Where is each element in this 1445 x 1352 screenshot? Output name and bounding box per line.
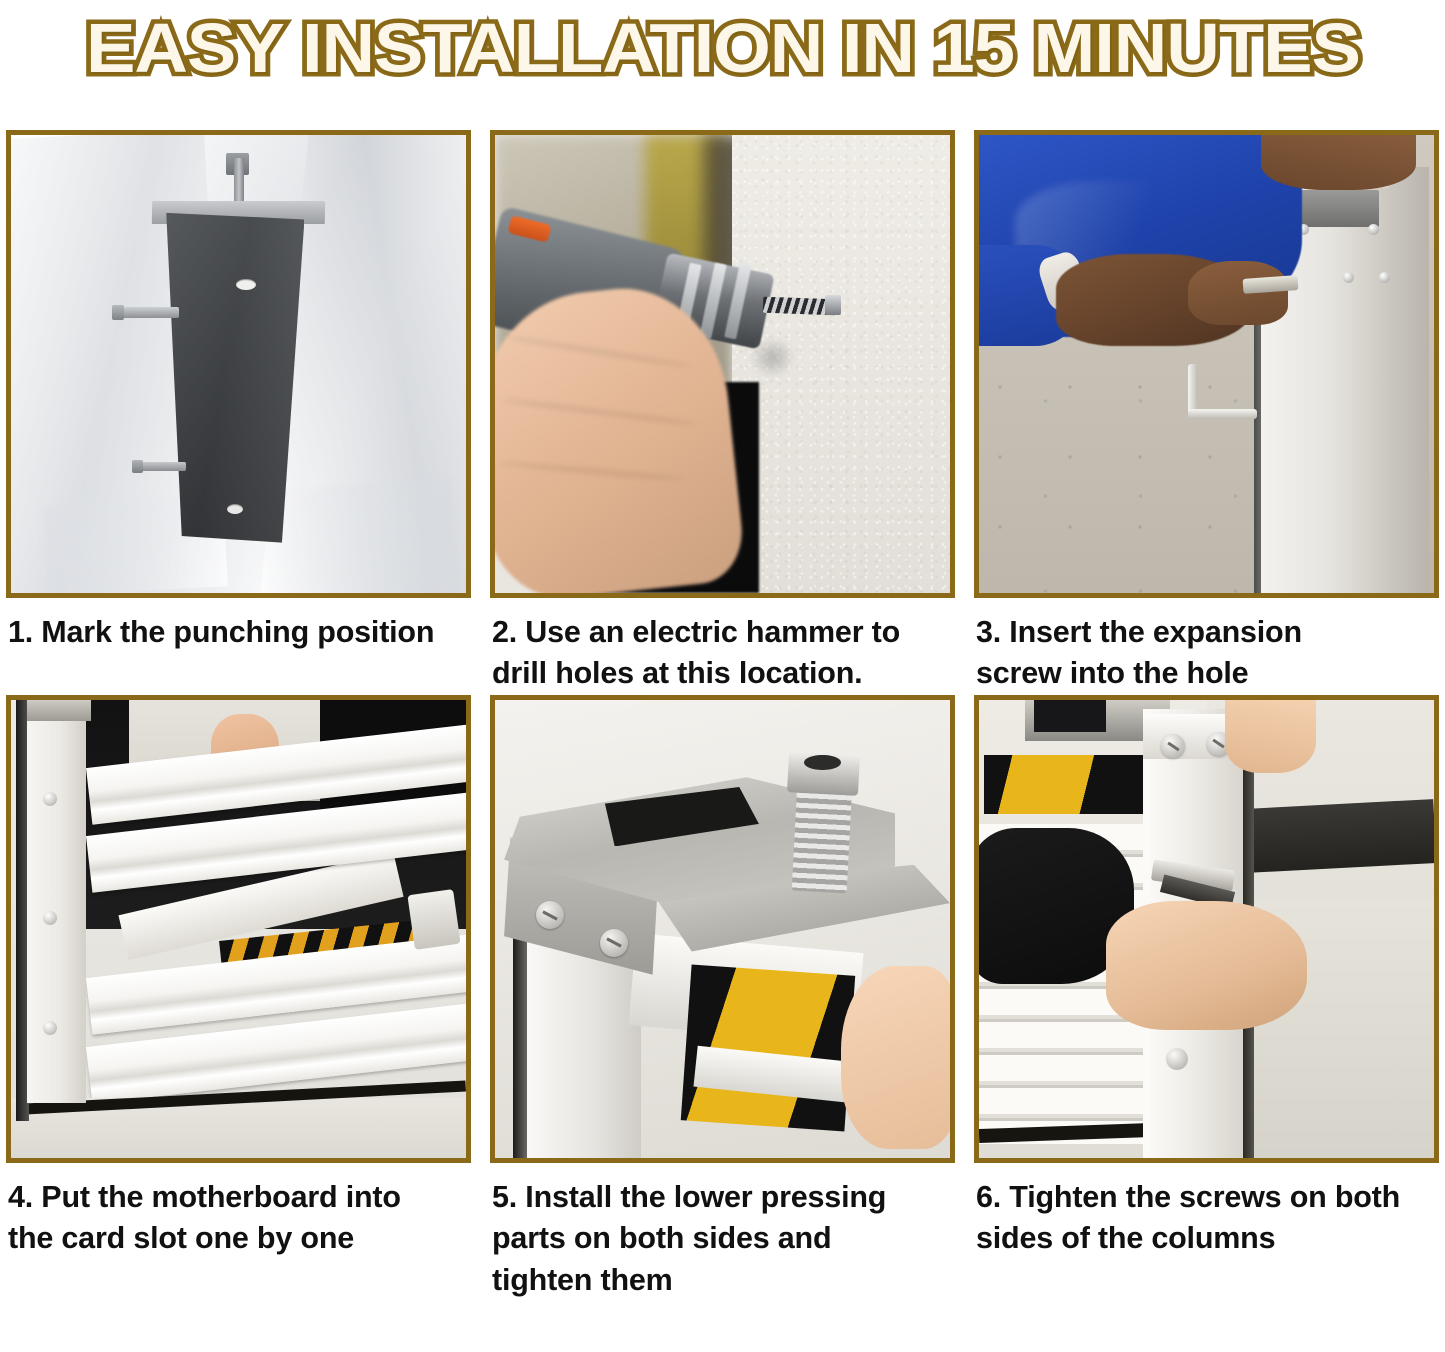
caption-line: screw into the hole <box>976 653 1439 694</box>
step-card-1: 1. Mark the punching position <box>0 130 477 695</box>
caption-line: sides of the columns <box>976 1218 1439 1259</box>
bracket-screw-icon <box>600 929 628 957</box>
installation-guide-page: EASY INSTALLATION IN 15 MINUTES 1. Mark … <box>0 0 1445 1352</box>
step-photo-frame-2 <box>490 130 955 598</box>
step-caption-3: 3. Insert the expansion screw into the h… <box>976 612 1439 695</box>
mounting-plate-marking-photo <box>11 135 466 593</box>
step-card-2: 2. Use an electric hammer to drill holes… <box>484 130 961 695</box>
step-caption-1: 1. Mark the punching position <box>8 612 471 653</box>
bolt-upper-icon <box>118 307 179 318</box>
step-caption-6: 6. Tighten the screws on both sides of t… <box>976 1177 1439 1260</box>
steps-grid: 1. Mark the punching position <box>0 130 1445 1301</box>
caption-line: 5. Install the lower pressing <box>492 1177 955 1218</box>
step-caption-4: 4. Put the motherboard into the card slo… <box>8 1177 471 1260</box>
caption-line: the card slot one by one <box>8 1218 471 1259</box>
lower-pressing-parts-photo <box>495 700 950 1158</box>
electric-hammer-drilling-photo <box>495 135 950 593</box>
hex-key-icon <box>1188 364 1256 419</box>
step-photo-frame-6 <box>974 695 1439 1163</box>
caption-line: 6. Tighten the screws on both <box>976 1177 1439 1218</box>
step-card-3: 3. Insert the expansion screw into the h… <box>968 130 1445 695</box>
step-photo-frame-5 <box>490 695 955 1163</box>
step-photo-frame-4 <box>6 695 471 1163</box>
step-caption-5: 5. Install the lower pressing parts on b… <box>492 1177 955 1301</box>
title-banner: EASY INSTALLATION IN 15 MINUTES <box>0 0 1445 96</box>
tighten-column-screws-photo <box>979 700 1434 1158</box>
plate-hole-lower-icon <box>227 504 243 514</box>
step-photo-frame-3 <box>974 130 1439 598</box>
bolt-lower-icon <box>138 462 186 471</box>
expansion-screw-insert-photo <box>979 135 1434 593</box>
step-card-6: 6. Tighten the screws on both sides of t… <box>968 695 1445 1301</box>
caption-line: tighten them <box>492 1260 955 1301</box>
motherboard-card-slot-photo <box>11 700 466 1158</box>
step-photo-frame-1 <box>6 130 471 598</box>
step-caption-2: 2. Use an electric hammer to drill holes… <box>492 612 955 695</box>
caption-line: 4. Put the motherboard into <box>8 1177 471 1218</box>
caption-line: 3. Insert the expansion <box>976 612 1439 653</box>
step-card-5: 5. Install the lower pressing parts on b… <box>484 695 961 1301</box>
caption-line: 1. Mark the punching position <box>8 612 471 653</box>
column-screw-icon <box>1166 1048 1188 1070</box>
step-card-4: 4. Put the motherboard into the card slo… <box>0 695 477 1301</box>
caption-line: drill holes at this location. <box>492 653 955 694</box>
caption-line: 2. Use an electric hammer to <box>492 612 955 653</box>
caption-line: parts on both sides and <box>492 1218 955 1259</box>
page-title: EASY INSTALLATION IN 15 MINUTES <box>85 13 1359 83</box>
hazard-stripe-icon <box>984 755 1148 815</box>
